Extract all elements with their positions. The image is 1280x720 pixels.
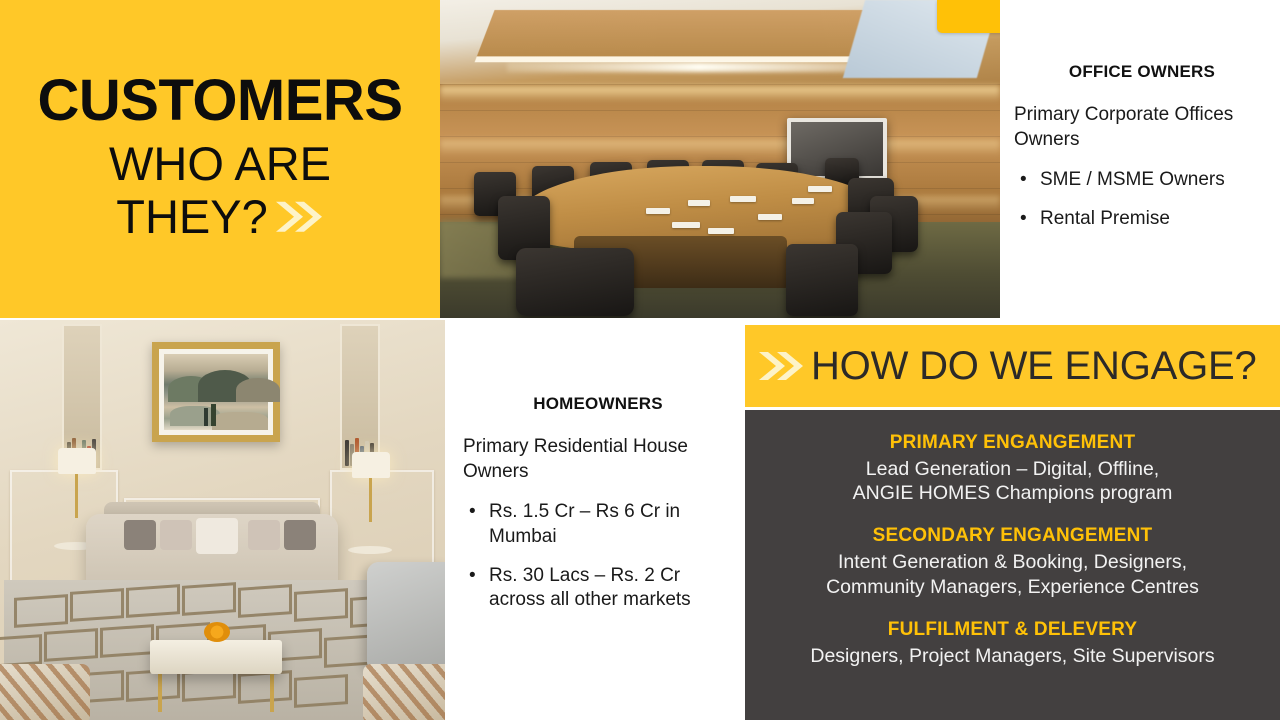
- list-item: • Rs. 1.5 Cr – Rs 6 Cr in Mumbai: [463, 500, 733, 549]
- bookshelf-right: [340, 324, 380, 470]
- homeowners-panel: HOMEOWNERS Primary Residential House Own…: [445, 320, 745, 720]
- paper: [672, 222, 700, 228]
- bullet-icon: •: [463, 564, 489, 613]
- page-subtitle: WHO ARE THEY?: [14, 138, 426, 247]
- engage-block-heading: SECONDARY ENGANGEMENT: [755, 525, 1270, 547]
- table-lamp-left-shade: [58, 448, 96, 474]
- paper: [730, 196, 756, 202]
- market-banner: MARKET: [937, 0, 1000, 33]
- office-owners-panel: OFFICE OWNERS Primary Corporate Offices …: [1000, 0, 1280, 318]
- list-item: • Rental Premise: [1014, 207, 1270, 232]
- office-owners-lead: Primary Corporate Offices Owners: [1014, 102, 1270, 152]
- page-title: CUSTOMERS: [14, 71, 426, 130]
- coffee-table-leg: [158, 670, 162, 712]
- paper: [792, 198, 814, 204]
- subtitle-line-1: WHO ARE: [109, 137, 331, 190]
- bullet-icon: •: [1014, 168, 1040, 193]
- title-text-group: CUSTOMERS WHO ARE THEY?: [0, 71, 440, 247]
- engage-block-line-2: ANGIE HOMES Champions program: [755, 481, 1270, 505]
- office-owners-title: OFFICE OWNERS: [1014, 62, 1270, 82]
- bullet-icon: •: [463, 500, 489, 549]
- framed-painting: [152, 342, 280, 442]
- table-lamp-right-stem: [369, 478, 372, 522]
- engage-block-line-2: Community Managers, Experience Centres: [755, 575, 1270, 599]
- double-chevron-right-icon: [757, 346, 805, 386]
- living-room-photo: [0, 320, 445, 720]
- paper: [708, 228, 734, 234]
- chair-right-front: [786, 244, 858, 316]
- engage-block-heading: PRIMARY ENGANGEMENT: [755, 432, 1270, 454]
- cushion: [124, 520, 156, 550]
- engage-heading: HOW DO WE ENGAGE?: [811, 344, 1257, 389]
- double-chevron-right-icon: [272, 195, 324, 248]
- subtitle-line-2: THEY?: [116, 190, 268, 243]
- cushion: [248, 520, 280, 550]
- engage-header: HOW DO WE ENGAGE?: [745, 325, 1280, 407]
- wall-light-2: [440, 140, 1000, 156]
- armchair: [367, 562, 445, 668]
- foreground-cushion-left: [0, 664, 90, 720]
- chair-left-front: [516, 248, 634, 316]
- paper: [646, 208, 670, 214]
- cushion: [196, 518, 238, 554]
- cushion: [160, 520, 192, 550]
- paper: [758, 214, 782, 220]
- list-item-label: SME / MSME Owners: [1040, 168, 1225, 193]
- table-lamp-left-stem: [75, 474, 78, 518]
- homeowners-lead: Primary Residential House Owners: [463, 434, 733, 484]
- engage-block-line-1: Intent Generation & Booking, Designers,: [755, 550, 1270, 574]
- list-item-label: Rs. 1.5 Cr – Rs 6 Cr in Mumbai: [489, 500, 733, 549]
- wall-light-1: [440, 86, 1000, 102]
- table-lamp-right-shade: [352, 452, 390, 478]
- painting-canvas: [164, 354, 268, 430]
- engage-block-heading: FULFILMENT & DELEVERY: [755, 619, 1270, 641]
- list-item-label: Rental Premise: [1040, 207, 1170, 232]
- engage-block-line-1: Designers, Project Managers, Site Superv…: [755, 644, 1270, 668]
- customers-title-panel: CUSTOMERS WHO ARE THEY?: [0, 0, 440, 318]
- bullet-icon: •: [1014, 207, 1040, 232]
- paper: [808, 186, 832, 192]
- subtitle-line-2-row: THEY?: [14, 191, 426, 248]
- list-item: • SME / MSME Owners: [1014, 168, 1270, 193]
- engage-block-line-1: Lead Generation – Digital, Offline,: [755, 457, 1270, 481]
- side-table-right: [348, 546, 392, 554]
- flower-vase: [204, 622, 230, 642]
- boardroom-photo: MARKET: [440, 0, 1000, 318]
- paper: [688, 200, 710, 206]
- slide-canvas: CUSTOMERS WHO ARE THEY?: [0, 0, 1280, 720]
- list-item-label: Rs. 30 Lacs – Rs. 2 Cr across all other …: [489, 564, 733, 613]
- coffee-table: [150, 640, 282, 674]
- engage-body: PRIMARY ENGANGEMENT Lead Generation – Di…: [745, 410, 1280, 720]
- engage-block: PRIMARY ENGANGEMENT Lead Generation – Di…: [755, 432, 1270, 505]
- list-item: • Rs. 30 Lacs – Rs. 2 Cr across all othe…: [463, 564, 733, 613]
- engage-block: SECONDARY ENGANGEMENT Intent Generation …: [755, 525, 1270, 598]
- coffee-table-leg: [270, 670, 274, 712]
- foreground-cushion-right: [363, 664, 445, 720]
- cushion: [284, 520, 316, 550]
- engage-block: FULFILMENT & DELEVERY Designers, Project…: [755, 619, 1270, 668]
- homeowners-title: HOMEOWNERS: [463, 394, 733, 414]
